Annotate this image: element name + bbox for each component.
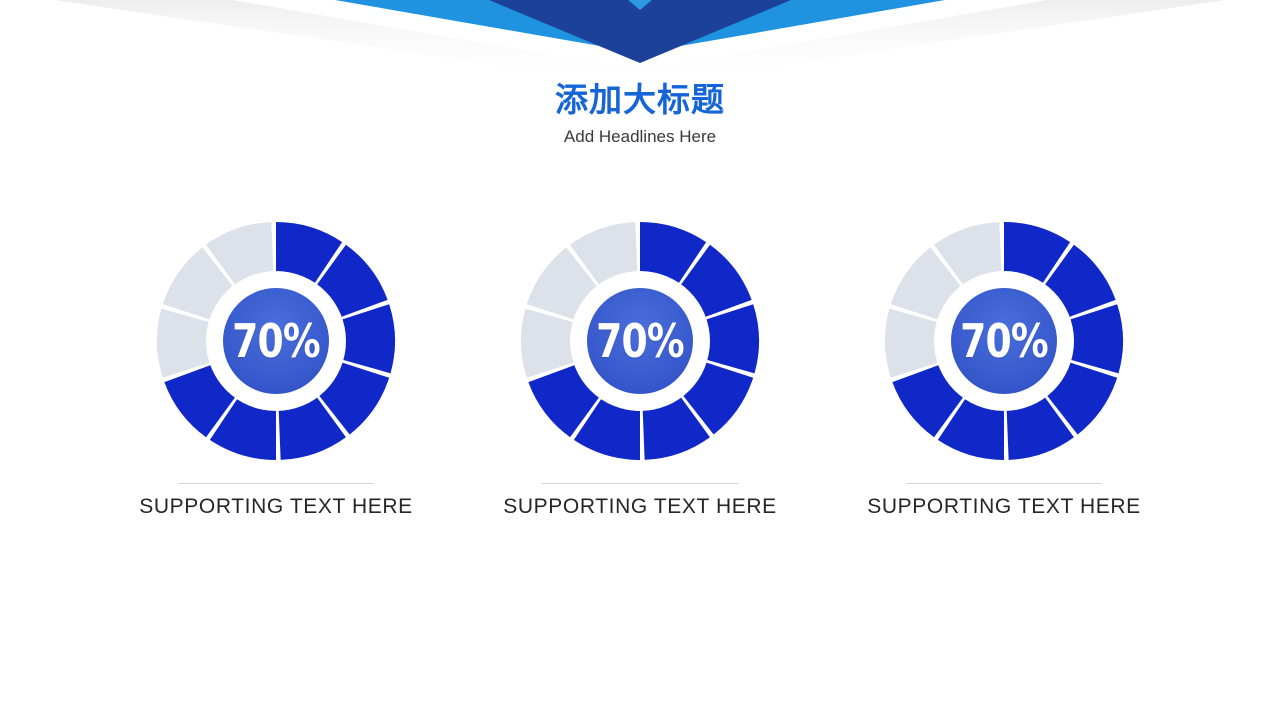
chart-card: 70% SUPPORTING TEXT HERE xyxy=(517,218,763,519)
caption-divider xyxy=(906,483,1102,484)
chart-caption: SUPPORTING TEXT HERE xyxy=(867,495,1140,519)
page-title: 添加大标题 xyxy=(0,78,1280,122)
donut-center-circle xyxy=(223,288,329,394)
donut-center-circle xyxy=(951,288,1057,394)
chevron-banner xyxy=(0,0,1280,75)
chart-card: 70% SUPPORTING TEXT HERE xyxy=(153,218,399,519)
page-subtitle: Add Headlines Here xyxy=(0,125,1280,149)
donut-chart-row: 70% SUPPORTING TEXT HERE xyxy=(0,218,1280,519)
chart-caption: SUPPORTING TEXT HERE xyxy=(139,495,412,519)
chart-card: 70% SUPPORTING TEXT HERE xyxy=(881,218,1127,519)
caption-divider xyxy=(542,483,738,484)
donut-center-circle xyxy=(587,288,693,394)
caption-divider xyxy=(178,483,374,484)
chart-caption: SUPPORTING TEXT HERE xyxy=(503,495,776,519)
heading-block: 添加大标题 Add Headlines Here xyxy=(0,78,1280,149)
donut-chart[interactable]: 70% xyxy=(881,218,1127,464)
donut-chart[interactable]: 70% xyxy=(153,218,399,464)
donut-chart[interactable]: 70% xyxy=(517,218,763,464)
